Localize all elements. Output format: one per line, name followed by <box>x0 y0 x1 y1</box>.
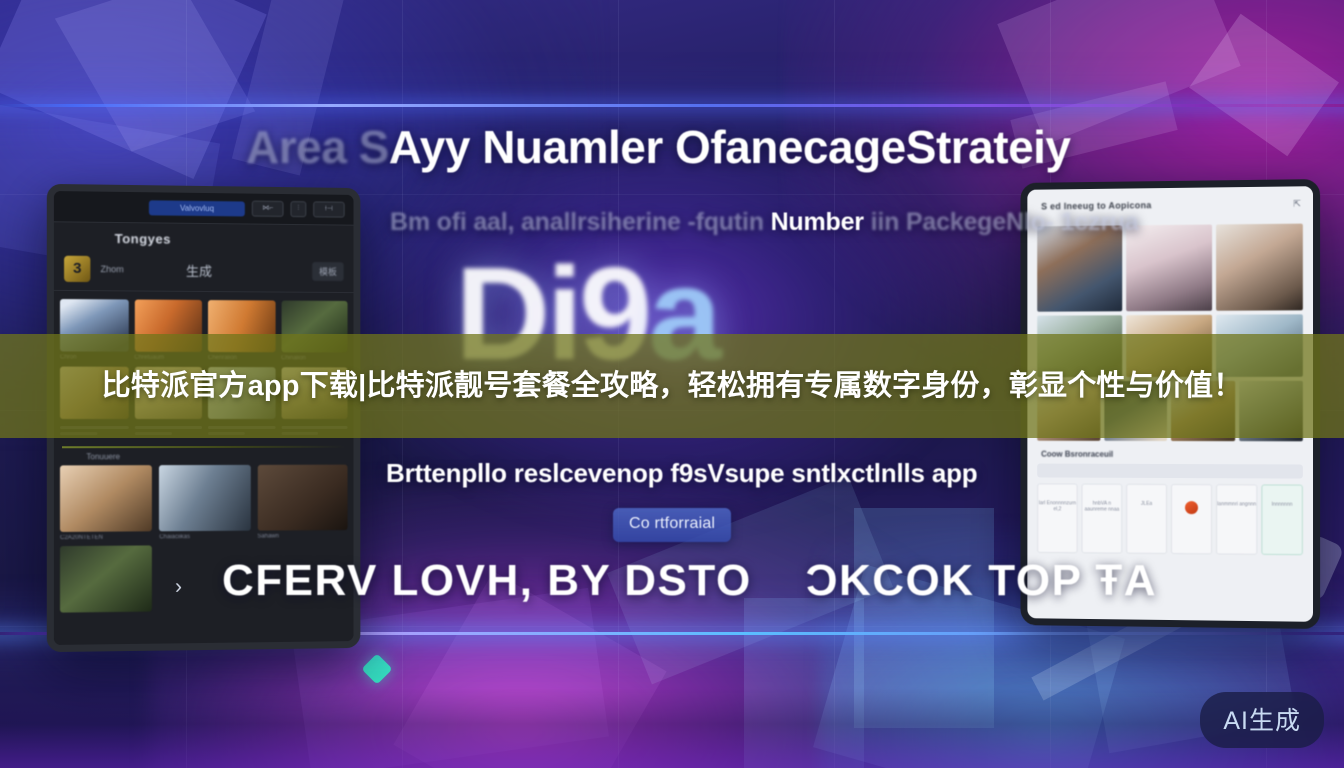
chevron-right-icon[interactable]: › <box>175 575 182 599</box>
artwork-headline-faded: Area S <box>246 121 389 173</box>
artwork-subline-1-prefix: Bm ofi aal, anallrsiherine -fqutin <box>390 208 771 236</box>
page-title: 比特派官方app下载|比特派靓号套餐全攻略，轻松拥有专属数字身份，彰显个性与价值… <box>102 365 1243 407</box>
artwork-subline-1-suffix: iin PackegeNlo- 1czrua <box>871 208 1139 236</box>
toolbar-button-2[interactable]: ⫶ <box>290 201 306 217</box>
artwork-subline-1: Bm ofi aal, anallrsiherine -fqutin Numbe… <box>390 208 1139 237</box>
large-thumbnail-item[interactable]: Chaiaciikas <box>159 465 250 540</box>
photo-item[interactable] <box>1037 225 1122 311</box>
row-label: Zhom <box>101 264 124 274</box>
app-logo: 3 <box>64 256 90 282</box>
toolbar-button-3[interactable]: ⟊⊣ <box>313 201 344 217</box>
artwork-bottom-text: CFERV LOVH, BY DSTOƆKCOK TOP ŦA <box>222 556 1157 606</box>
dark-app-toolbar: Valvovluq ⋈⌐ ⫶ ⟊⊣ <box>54 191 354 226</box>
row-label-right[interactable]: 模板 <box>312 261 344 280</box>
address-bar[interactable]: Valvovluq <box>149 200 245 216</box>
large-thumbnail-caption: C2A20NTETEN <box>60 534 152 541</box>
large-thumbnail-grid: C2A20NTETEN Chaiaciikas Sahawn <box>54 465 354 541</box>
section-label: Tonuuere <box>54 452 354 466</box>
chip-item[interactable]: larl Enonnnnzurn el,2 <box>1037 483 1077 553</box>
chip-item[interactable]: hnbVA n aaunreme nnaa <box>1082 484 1123 554</box>
neon-streak-top <box>0 104 1344 107</box>
toolbar-button-1[interactable]: ⋈⌐ <box>252 201 284 217</box>
dark-app-header-row: 3 Zhom 生成 模板 <box>54 252 354 294</box>
background-bottom-fade <box>0 688 1344 768</box>
large-thumbnail-image[interactable] <box>60 545 152 612</box>
artwork-bottom-left: CFERV LOVH, BY DSTO <box>222 556 752 605</box>
artwork-bottom-right: ƆKCOK TOP ŦA <box>806 556 1157 605</box>
photo-item[interactable] <box>1216 224 1303 311</box>
dark-app-title: Tongyes <box>54 222 354 254</box>
large-thumbnail-image <box>159 465 250 531</box>
large-thumbnail-image <box>257 465 347 531</box>
chip-item-with-icon[interactable] <box>1171 484 1212 554</box>
large-thumbnail-caption: Chaiaciikas <box>159 534 250 541</box>
banner-image: Di9a Valvovluq ⋈⌐ ⫶ ⟊⊣ Tongyes 3 Zhom 生成… <box>0 0 1344 768</box>
section-divider <box>62 446 346 448</box>
light-search-bar[interactable] <box>1037 464 1303 479</box>
artwork-subline-1-main: Number <box>771 208 871 236</box>
chip-item[interactable]: lnnnnnnn <box>1261 484 1302 555</box>
artwork-subline-2: Brttenpllo reslcevenop f9sVsupe sntlxctl… <box>386 458 977 489</box>
artwork-headline-main: Ayy Nuamler OfanecageStrateiy <box>389 121 1071 173</box>
photo-item[interactable] <box>1126 225 1212 312</box>
ai-generated-badge: AI生成 <box>1200 692 1324 748</box>
chip-item[interactable]: lanmmnri angnnn <box>1216 484 1257 555</box>
large-thumbnail-item[interactable]: C2A20NTETEN <box>60 465 152 541</box>
chip-item[interactable]: JLEa <box>1126 484 1167 554</box>
chip-row: larl Enonnnnzurn el,2 hnbVA n aaunreme n… <box>1027 483 1313 565</box>
title-overlay-band: 比特派官方app下载|比特派靓号套餐全攻略，轻松拥有专属数字身份，彰显个性与价值… <box>0 334 1344 438</box>
large-thumbnail-caption: Sahawn <box>257 533 347 540</box>
row-label-mid: 生成 <box>186 260 212 279</box>
large-thumbnail-item[interactable]: Sahawn <box>257 465 347 540</box>
artwork-cta-button[interactable]: Co rtforraial <box>613 508 731 542</box>
light-section-label: Coow Bsronraceuil <box>1027 441 1313 465</box>
expand-icon[interactable]: ⇱ <box>1293 198 1301 209</box>
artwork-headline: Area SAyy Nuamler OfanecageStrateiy <box>246 120 1071 174</box>
record-icon <box>1185 501 1198 514</box>
large-thumbnail-image <box>60 465 152 532</box>
